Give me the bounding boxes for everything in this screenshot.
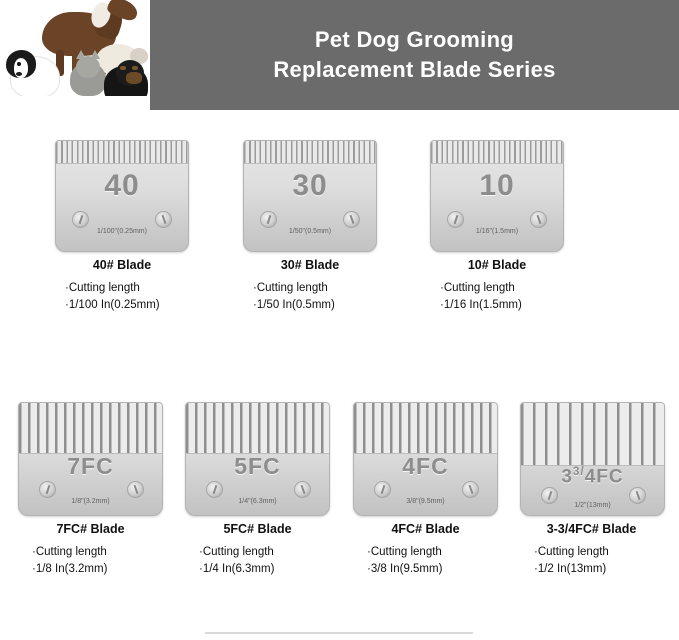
blade-card-30: 30 1/50"(0.5mm) 30# Blade Cutting length… (243, 140, 377, 252)
cat-head-shape (76, 56, 100, 78)
blade-number-40: 40 (56, 169, 188, 203)
title-line-1: Pet Dog Grooming (315, 25, 514, 55)
blade-screw-right (155, 211, 172, 228)
blade-teeth-fine (431, 141, 563, 164)
blade-card-40: 40 1/100"(0.25mm) 40# Blade Cutting leng… (55, 140, 189, 252)
blade-engraving-5fc: 1/4"(6.3mm) (186, 498, 329, 505)
blade-specs-7fc: Cutting length 1/8 In(3.2mm) (32, 544, 107, 578)
blade-screw-left (206, 481, 223, 498)
rottweiler-brow-shape (132, 66, 138, 70)
collage-base (0, 96, 150, 110)
spec-line: Cutting length (534, 544, 609, 561)
blade-screw-left (374, 481, 391, 498)
blade-card-4fc: 4FC 3/8"(9.5mm) 4FC# Blade Cutting lengt… (353, 402, 498, 516)
blade-caption-4fc: 4FC# Blade (353, 522, 498, 536)
blade-number-30: 30 (244, 169, 376, 203)
number-suffix: 4FC (585, 466, 624, 487)
spec-line: 1/16 In(1.5mm) (440, 297, 522, 314)
blade-number-5fc: 5FC (186, 453, 329, 480)
blade-engraving-4fc: 3/8"(9.5mm) (354, 498, 497, 505)
blade-engraving-3-3-4fc: 1/2"(13mm) (521, 502, 664, 509)
blade-screw-right (462, 481, 479, 498)
blade-engraving-7fc: 1/8"(3.2mm) (19, 498, 162, 505)
page-title: Pet Dog Grooming Replacement Blade Serie… (150, 0, 679, 110)
blade-image-3-3-4fc: 33/4FC 1/2"(13mm) (520, 402, 665, 516)
blade-screw-right (343, 211, 360, 228)
spec-line: 1/8 In(3.2mm) (32, 561, 107, 578)
blade-teeth-fine (244, 141, 376, 164)
blade-caption-3-3-4fc: 3-3/4FC# Blade (508, 522, 675, 536)
spec-line: Cutting length (253, 280, 335, 297)
blade-image-5fc: 5FC 1/4"(6.3mm) (185, 402, 330, 516)
blade-number-3-3-4fc: 33/4FC (521, 465, 664, 488)
border-collie-nose-shape (16, 72, 22, 76)
border-collie-eye-shape (17, 62, 21, 66)
title-line-2: Replacement Blade Series (273, 55, 555, 85)
blade-image-7fc: 7FC 1/8"(3.2mm) (18, 402, 163, 516)
blade-caption-40: 40# Blade (55, 258, 189, 272)
blade-caption-10: 10# Blade (430, 258, 564, 272)
blade-number-7fc: 7FC (19, 453, 162, 480)
blade-teeth-coarse (186, 403, 329, 454)
blade-number-10: 10 (431, 169, 563, 203)
blade-teeth-coarse (354, 403, 497, 454)
blade-card-7fc: 7FC 1/8"(3.2mm) 7FC# Blade Cutting lengt… (18, 402, 163, 516)
page-header: Pet Dog Grooming Replacement Blade Serie… (0, 0, 679, 110)
number-whole: 3 (561, 466, 573, 487)
blade-image-40: 40 1/100"(0.25mm) (55, 140, 189, 252)
spec-line: 1/50 In(0.5mm) (253, 297, 335, 314)
rottweiler-brow-shape (120, 66, 126, 70)
blade-engraving-40: 1/100"(0.25mm) (56, 228, 188, 235)
number-fraction: 3/ (573, 465, 585, 478)
blade-specs-4fc: Cutting length 3/8 In(9.5mm) (367, 544, 442, 578)
blade-image-30: 30 1/50"(0.5mm) (243, 140, 377, 252)
blade-specs-30: Cutting length 1/50 In(0.5mm) (253, 280, 335, 314)
spec-line: Cutting length (65, 280, 160, 297)
blade-card-5fc: 5FC 1/4"(6.3mm) 5FC# Blade Cutting lengt… (185, 402, 330, 516)
blade-engraving-10: 1/16"(1.5mm) (431, 228, 563, 235)
blade-screw-left (447, 211, 464, 228)
blade-teeth-coarse (19, 403, 162, 454)
blade-card-10: 10 1/16"(1.5mm) 10# Blade Cutting length… (430, 140, 564, 252)
blade-caption-5fc: 5FC# Blade (185, 522, 330, 536)
blade-teeth-coarse (521, 403, 664, 466)
spec-line: Cutting length (32, 544, 107, 561)
blade-image-10: 10 1/16"(1.5mm) (430, 140, 564, 252)
blade-specs-3-3-4fc: Cutting length 1/2 In(13mm) (534, 544, 609, 578)
blade-teeth-fine (56, 141, 188, 164)
animal-collage-image (0, 0, 150, 110)
blade-caption-7fc: 7FC# Blade (18, 522, 163, 536)
spec-line: 3/8 In(9.5mm) (367, 561, 442, 578)
blade-engraving-30: 1/50"(0.5mm) (244, 228, 376, 235)
blade-specs-5fc: Cutting length 1/4 In(6.3mm) (199, 544, 274, 578)
blade-screw-left (72, 211, 89, 228)
blade-screw-right (294, 481, 311, 498)
spec-line: Cutting length (367, 544, 442, 561)
blade-number-4fc: 4FC (354, 453, 497, 480)
bottom-divider (205, 632, 473, 634)
blade-screw-left (260, 211, 277, 228)
spec-line: Cutting length (440, 280, 522, 297)
spec-line: 1/2 In(13mm) (534, 561, 609, 578)
blade-screw-right (530, 211, 547, 228)
blade-card-3-3-4fc: 33/4FC 1/2"(13mm) 3-3/4FC# Blade Cutting… (520, 402, 665, 516)
spec-line: 1/100 In(0.25mm) (65, 297, 160, 314)
spec-line: 1/4 In(6.3mm) (199, 561, 274, 578)
blade-specs-10: Cutting length 1/16 In(1.5mm) (440, 280, 522, 314)
blade-image-4fc: 4FC 3/8"(9.5mm) (353, 402, 498, 516)
spec-line: Cutting length (199, 544, 274, 561)
blade-caption-30: 30# Blade (243, 258, 377, 272)
blade-specs-40: Cutting length 1/100 In(0.25mm) (65, 280, 160, 314)
blade-screw-right (127, 481, 144, 498)
rottweiler-snout-shape (126, 72, 142, 84)
blade-screw-left (39, 481, 56, 498)
